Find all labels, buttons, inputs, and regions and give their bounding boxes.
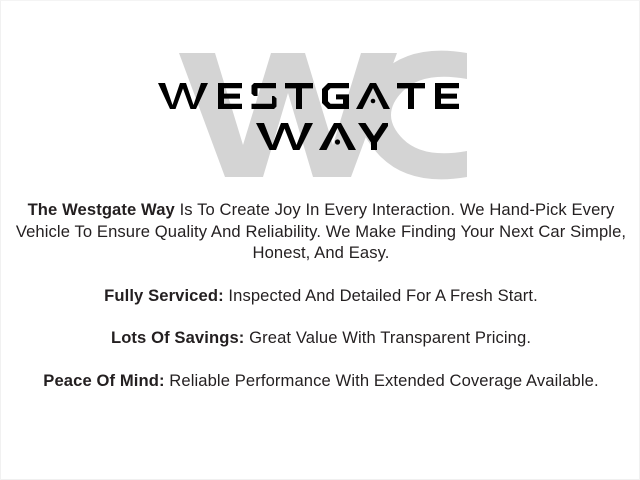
feature-peace-of-mind: Peace Of Mind: Reliable Performance With… bbox=[15, 370, 627, 392]
intro-paragraph: The Westgate Way Is To Create Joy In Eve… bbox=[15, 199, 627, 264]
feature-lead: Peace Of Mind: bbox=[43, 371, 164, 390]
dealer-info-panel: The Westgate Way Is To Create Joy In Eve… bbox=[0, 0, 640, 480]
feature-lots-of-savings: Lots Of Savings: Great Value With Transp… bbox=[15, 327, 627, 349]
dealer-info-copy: The Westgate Way Is To Create Joy In Eve… bbox=[15, 199, 627, 391]
feature-lead: Fully Serviced: bbox=[104, 286, 224, 305]
feature-lead: Lots Of Savings: bbox=[111, 328, 244, 347]
brand-wordmark bbox=[1, 49, 640, 181]
feature-rest: Great Value With Transparent Pricing. bbox=[244, 328, 531, 347]
wordmark-way bbox=[254, 117, 388, 155]
intro-lead: The Westgate Way bbox=[28, 200, 175, 219]
feature-rest: Reliable Performance With Extended Cover… bbox=[165, 371, 599, 390]
wordmark-westgate bbox=[156, 75, 486, 115]
brand-logo bbox=[1, 49, 640, 181]
feature-fully-serviced: Fully Serviced: Inspected And Detailed F… bbox=[15, 285, 627, 307]
feature-rest: Inspected And Detailed For A Fresh Start… bbox=[224, 286, 538, 305]
